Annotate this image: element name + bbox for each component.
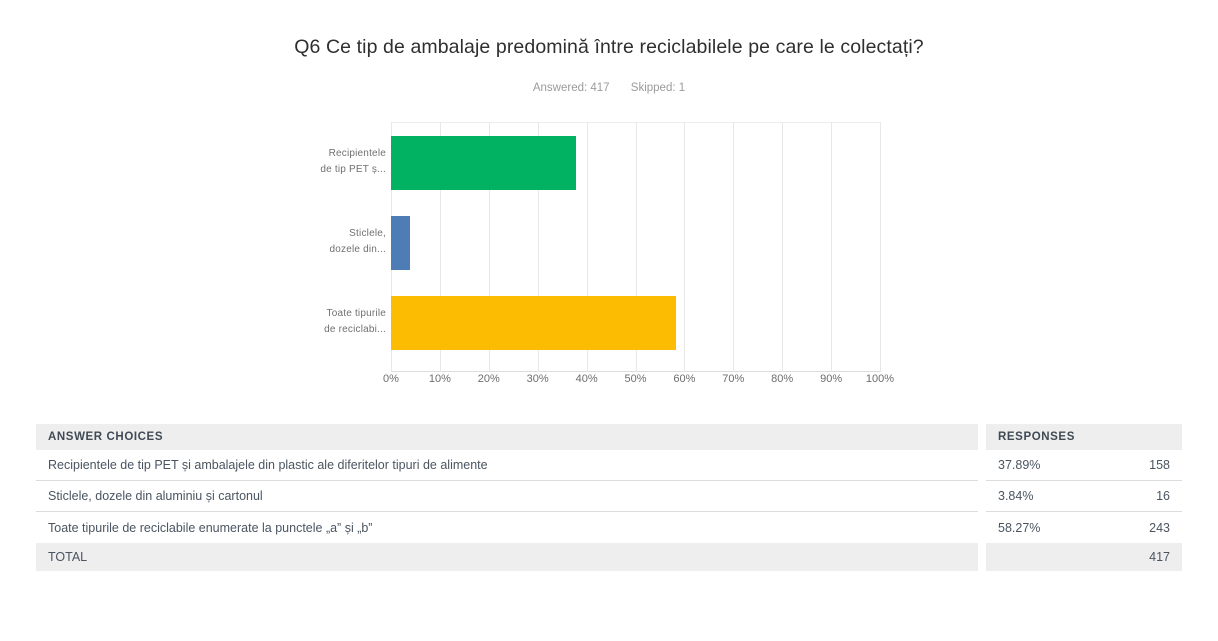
- answer-choice-text: Recipientele de tip PET și ambalajele di…: [48, 458, 488, 472]
- x-tick-70%: 70%: [722, 373, 744, 385]
- gridline-90%: [831, 122, 832, 372]
- results-table: ANSWER CHOICES Recipientele de tip PET ș…: [36, 424, 1182, 571]
- table-row: Toate tipurile de reciclabile enumerate …: [36, 512, 978, 543]
- response-count: 243: [1149, 521, 1170, 535]
- category-label-line: dozele din...: [290, 242, 386, 258]
- bar-3[interactable]: [391, 296, 676, 350]
- response-percent: 3.84%: [998, 489, 1033, 503]
- x-tick-40%: 40%: [576, 373, 598, 385]
- x-tick-100%: 100%: [866, 373, 894, 385]
- x-tick-20%: 20%: [478, 373, 500, 385]
- x-tick-80%: 80%: [771, 373, 793, 385]
- responses-header: RESPONSES: [986, 424, 1182, 450]
- response-count: 16: [1156, 489, 1170, 503]
- category-label-line: Recipientele: [290, 146, 386, 162]
- table-row: Sticlele, dozele din aluminiu și cartonu…: [36, 481, 978, 512]
- total-count: 417: [1149, 550, 1170, 564]
- answer-choices-rows: Recipientele de tip PET și ambalajele di…: [36, 450, 978, 543]
- x-tick-50%: 50%: [624, 373, 646, 385]
- table-row: Recipientele de tip PET și ambalajele di…: [36, 450, 978, 481]
- total-row-count-cell: 417: [986, 543, 1182, 571]
- bar-2[interactable]: [391, 216, 410, 270]
- table-row: 3.84%16: [986, 481, 1182, 512]
- chart-plot-area: [391, 122, 880, 372]
- page-title: Q6 Ce tip de ambalaje predomină între re…: [0, 36, 1218, 59]
- category-label-2: Sticlele,dozele din...: [290, 226, 386, 258]
- skipped-count: Skipped: 1: [631, 82, 685, 94]
- response-percent: 58.27%: [998, 521, 1040, 535]
- gridline-100%: [880, 122, 881, 372]
- table-row: 58.27%243: [986, 512, 1182, 543]
- total-row-label-cell: TOTAL: [36, 543, 978, 571]
- gridline-60%: [684, 122, 685, 372]
- x-tick-60%: 60%: [673, 373, 695, 385]
- total-label: TOTAL: [48, 550, 87, 564]
- responses-rows: 37.89%1583.84%1658.27%243: [986, 450, 1182, 543]
- category-label-line: de tip PET ș...: [290, 162, 386, 178]
- bar-chart: Recipientelede tip PET ș...Sticlele,doze…: [0, 115, 1218, 395]
- response-percent: 37.89%: [998, 458, 1040, 472]
- response-count: 158: [1149, 458, 1170, 472]
- category-label-1: Recipientelede tip PET ș...: [290, 146, 386, 178]
- x-tick-10%: 10%: [429, 373, 451, 385]
- answered-count: Answered: 417: [533, 82, 610, 94]
- category-label-3: Toate tipurilede reciclabi...: [290, 306, 386, 338]
- responses-column: RESPONSES 37.89%1583.84%1658.27%243 417: [986, 424, 1182, 571]
- category-label-line: Sticlele,: [290, 226, 386, 242]
- answer-choice-text: Sticlele, dozele din aluminiu și cartonu…: [48, 489, 263, 503]
- answer-choices-column: ANSWER CHOICES Recipientele de tip PET ș…: [36, 424, 978, 571]
- category-label-line: Toate tipurile: [290, 306, 386, 322]
- answer-choices-header: ANSWER CHOICES: [36, 424, 978, 450]
- x-tick-30%: 30%: [527, 373, 549, 385]
- category-label-line: de reciclabi...: [290, 322, 386, 338]
- answer-choice-text: Toate tipurile de reciclabile enumerate …: [48, 521, 372, 535]
- gridline-80%: [782, 122, 783, 372]
- x-tick-0%: 0%: [383, 373, 399, 385]
- response-stats: Answered: 417 Skipped: 1: [0, 82, 1218, 94]
- table-row: 37.89%158: [986, 450, 1182, 481]
- x-tick-90%: 90%: [820, 373, 842, 385]
- bar-1[interactable]: [391, 136, 576, 190]
- gridline-70%: [733, 122, 734, 372]
